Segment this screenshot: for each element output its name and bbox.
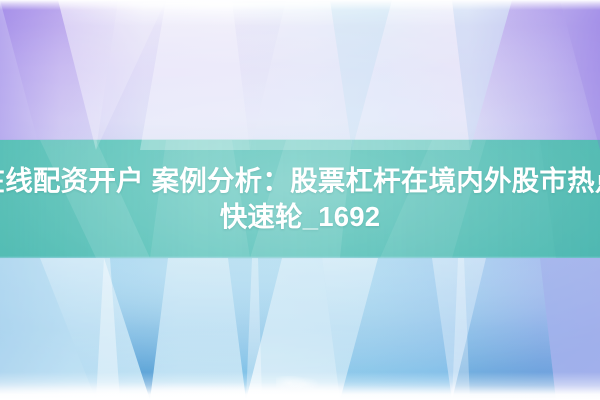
headline-block: 在线配资开户 案例分析：股票杠杆在境内外股市热点 快速轮_1692 <box>0 140 600 258</box>
headline-line-2: 快速轮_1692 <box>220 199 381 235</box>
top-edge-highlight <box>0 0 600 10</box>
banner-image: 在线配资开户 案例分析：股票杠杆在境内外股市热点 快速轮_1692 <box>0 0 600 400</box>
headline-line-1: 在线配资开户 案例分析：股票杠杆在境内外股市热点 <box>0 163 600 199</box>
watermark-mark <box>276 376 320 390</box>
